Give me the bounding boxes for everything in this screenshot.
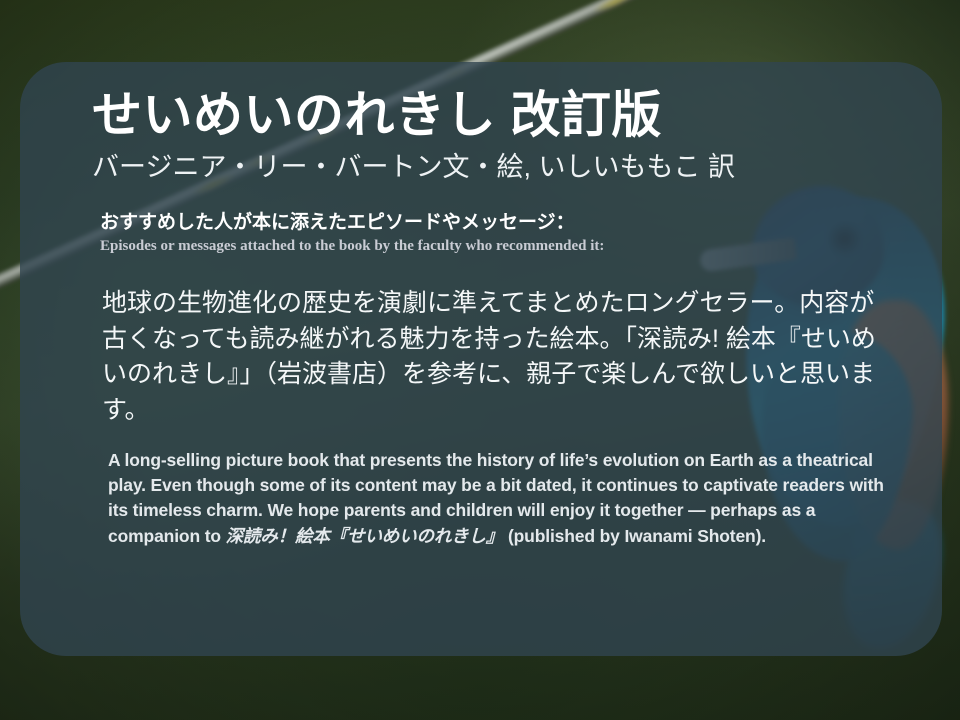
book-author-credit: バージニア・リー・バートン文・絵, いしいももこ 訳 <box>92 151 890 185</box>
recommendation-body-japanese: 地球の生物進化の歴史を演劇に準えてまとめたロングセラー。内容が古くなっても読み継… <box>102 286 892 428</box>
body-en-segment-2: (published by Iwanami Shoten). <box>503 526 766 546</box>
slide-canvas: せいめいのれきし 改訂版 バージニア・リー・バートン文・絵, いしいももこ 訳 … <box>0 0 960 720</box>
section-heading-english: Episodes or messages attached to the boo… <box>100 237 890 257</box>
section-heading-japanese: おすすめした人が本に添えたエピソードやメッセージ： <box>100 211 890 235</box>
book-title: せいめいのれきし 改訂版 <box>92 86 890 145</box>
content-panel: せいめいのれきし 改訂版 バージニア・リー・バートン文・絵, いしいももこ 訳 … <box>20 62 942 656</box>
body-en-cited-title: 深読み！絵本『せいめいのれきし』 <box>226 526 504 546</box>
recommendation-body-english: A long-selling picture book that present… <box>108 448 888 549</box>
